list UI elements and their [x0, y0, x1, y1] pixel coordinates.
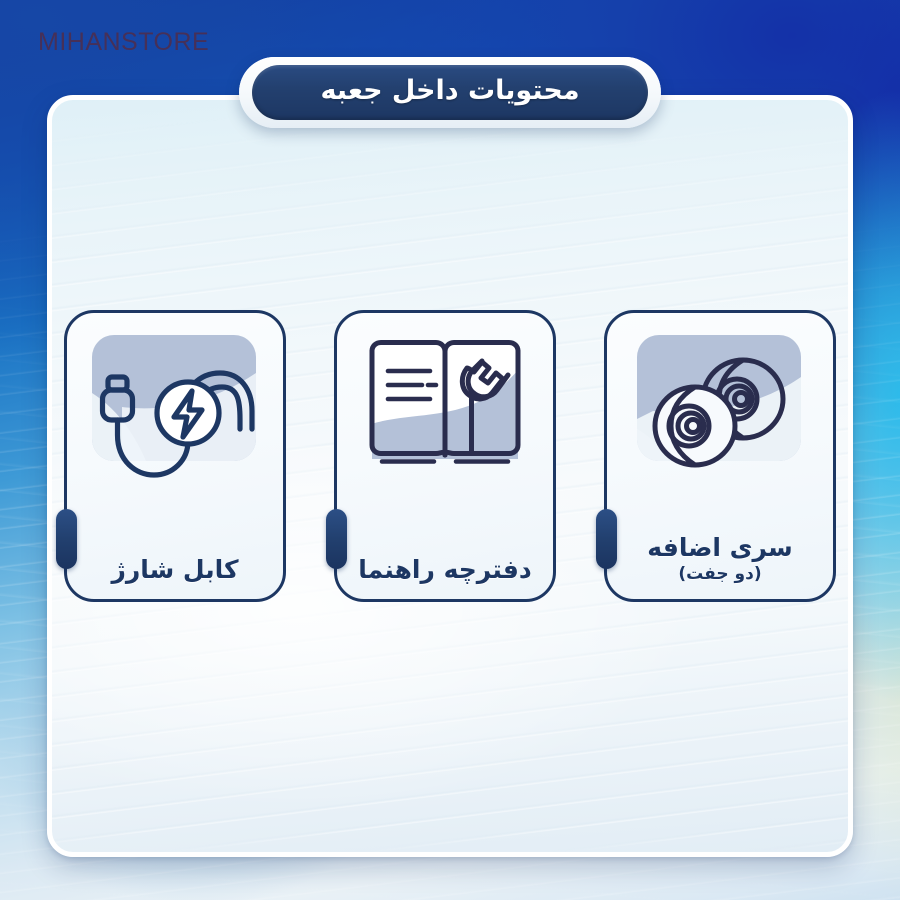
box-contents-list: کابل شارژ: [0, 310, 900, 602]
title-badge: محتویات داخل جعبه: [239, 57, 661, 128]
infographic-canvas: MIHANSTORE محتویات داخل جعبه: [0, 0, 900, 900]
charging-cable-icon: [88, 333, 262, 491]
content-card-charging-cable[interactable]: کابل شارژ: [64, 310, 286, 602]
card-label: سری اضافه: [647, 533, 792, 563]
page-title: محتویات داخل جعبه: [292, 75, 608, 106]
eartips-glyph: [633, 333, 807, 491]
manual-book-glyph: [358, 333, 532, 491]
title-badge-inner: محتویات داخل جعبه: [252, 65, 648, 120]
card-label: دفترچه راهنما: [358, 555, 532, 585]
card-sublabel: (دو جفت): [678, 564, 761, 585]
content-card-extra-eartips[interactable]: سری اضافه (دو جفت): [604, 310, 836, 602]
extra-eartips-icon: [633, 333, 807, 491]
content-card-manual[interactable]: دفترچه راهنما: [334, 310, 556, 602]
card-label: کابل شارژ: [111, 555, 238, 585]
charging-cable-glyph: [88, 333, 262, 491]
card-tab: [596, 509, 617, 569]
title-badge-outer: محتویات داخل جعبه: [239, 57, 661, 128]
card-tab: [56, 509, 77, 569]
brand-watermark: MIHANSTORE: [38, 28, 209, 57]
card-tab: [326, 509, 347, 569]
manual-book-wrench-icon: [358, 333, 532, 491]
